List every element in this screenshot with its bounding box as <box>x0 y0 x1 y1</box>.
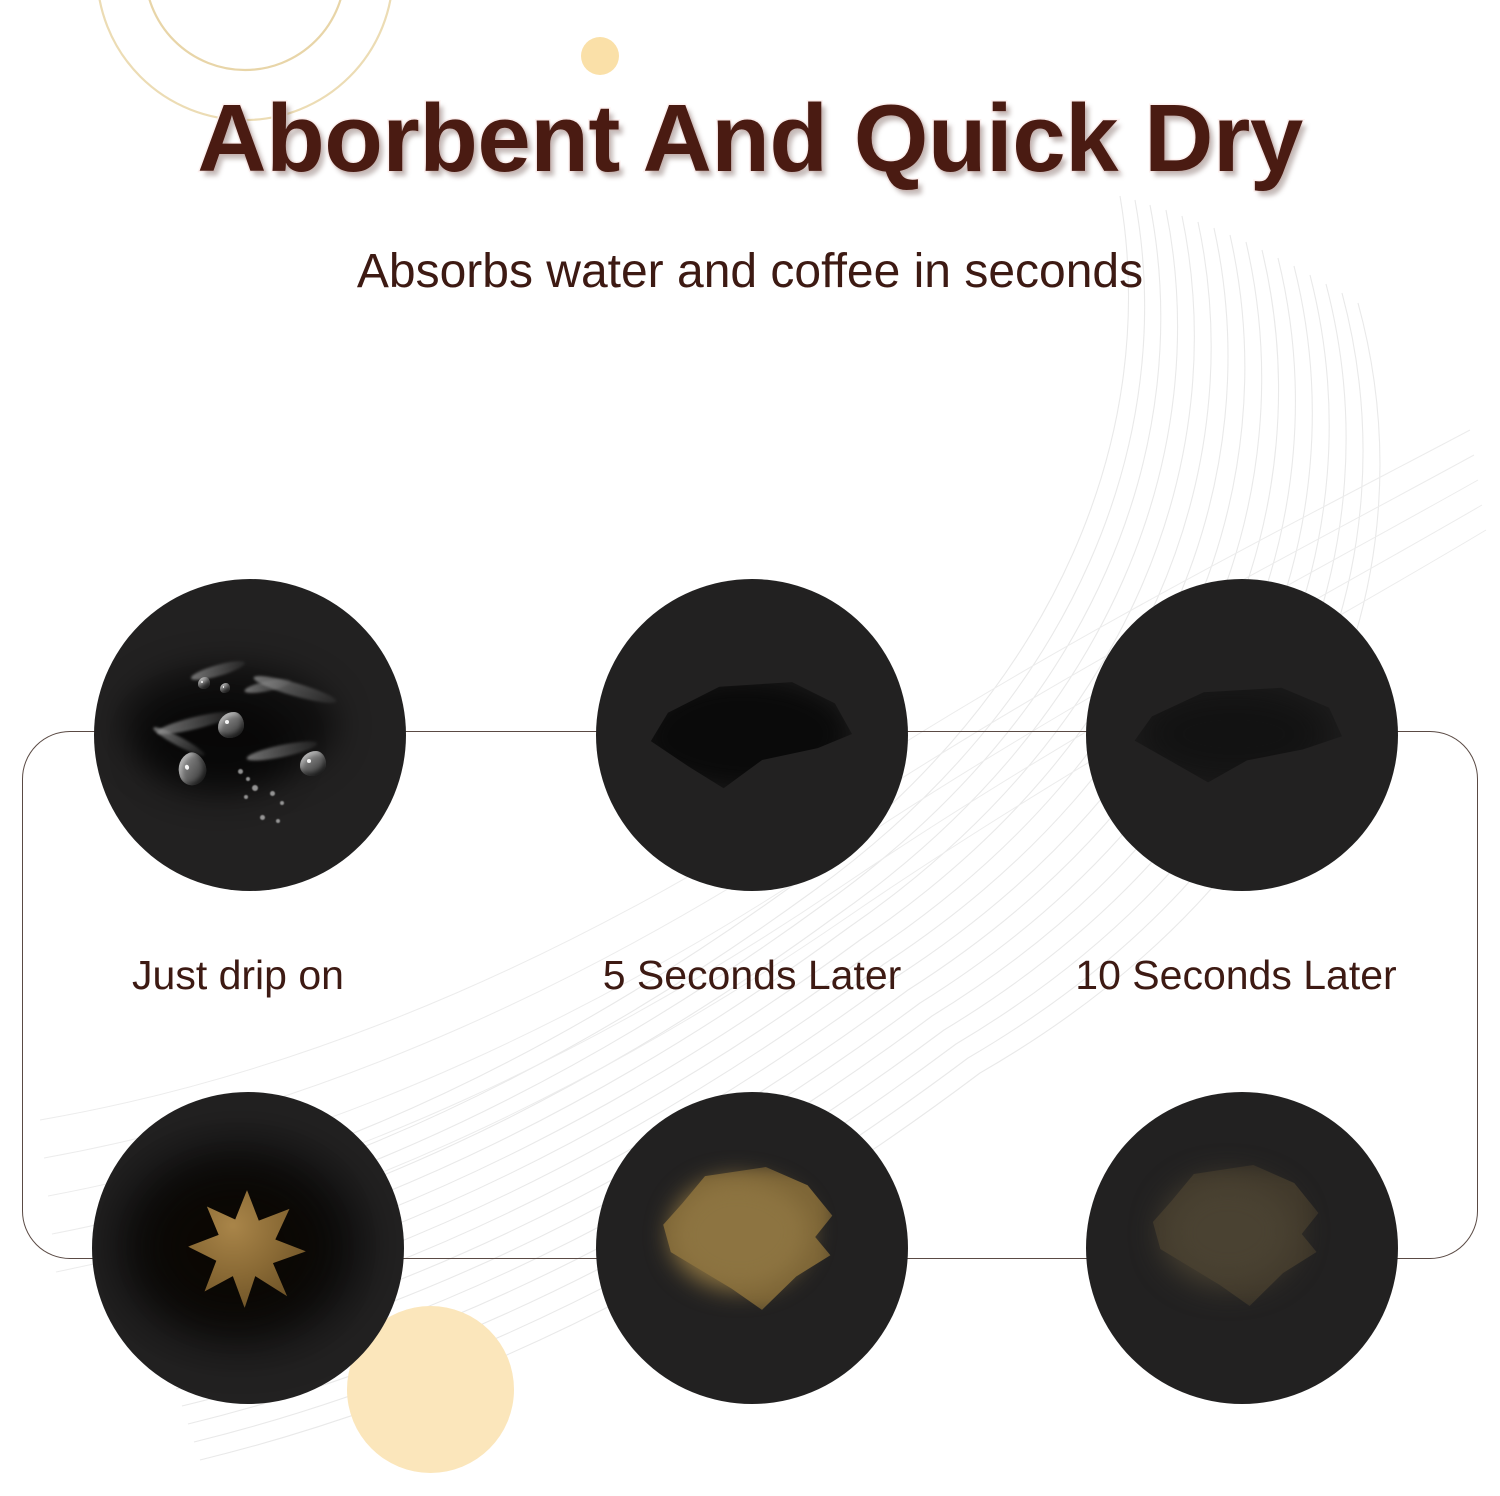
caption-10-seconds-later: 10 Seconds Later <box>1026 952 1446 999</box>
fabric-swatch-coffee-5s <box>596 1092 908 1404</box>
absorbency-demo-grid: Just drip on 5 Seconds Later 10 Seconds … <box>0 0 1500 1496</box>
caption-5-seconds-later: 5 Seconds Later <box>542 952 962 999</box>
caption-just-drip-on: Just drip on <box>28 952 448 999</box>
fabric-swatch-coffee-10s <box>1086 1092 1398 1404</box>
water-5s-cell <box>596 579 908 891</box>
fabric-swatch-water-5s <box>596 579 908 891</box>
fabric-swatch-water-drip <box>94 579 406 891</box>
coffee-drip-cell <box>92 1092 404 1404</box>
fabric-swatch-water-10s <box>1086 579 1398 891</box>
water-10s-cell <box>1086 579 1398 891</box>
fabric-swatch-coffee-drip <box>92 1092 404 1404</box>
coffee-5s-cell <box>596 1092 908 1404</box>
coffee-10s-cell <box>1086 1092 1398 1404</box>
infographic-page: Aborbent And Quick Dry Absorbs water and… <box>0 0 1500 1496</box>
water-drip-cell <box>94 579 406 891</box>
